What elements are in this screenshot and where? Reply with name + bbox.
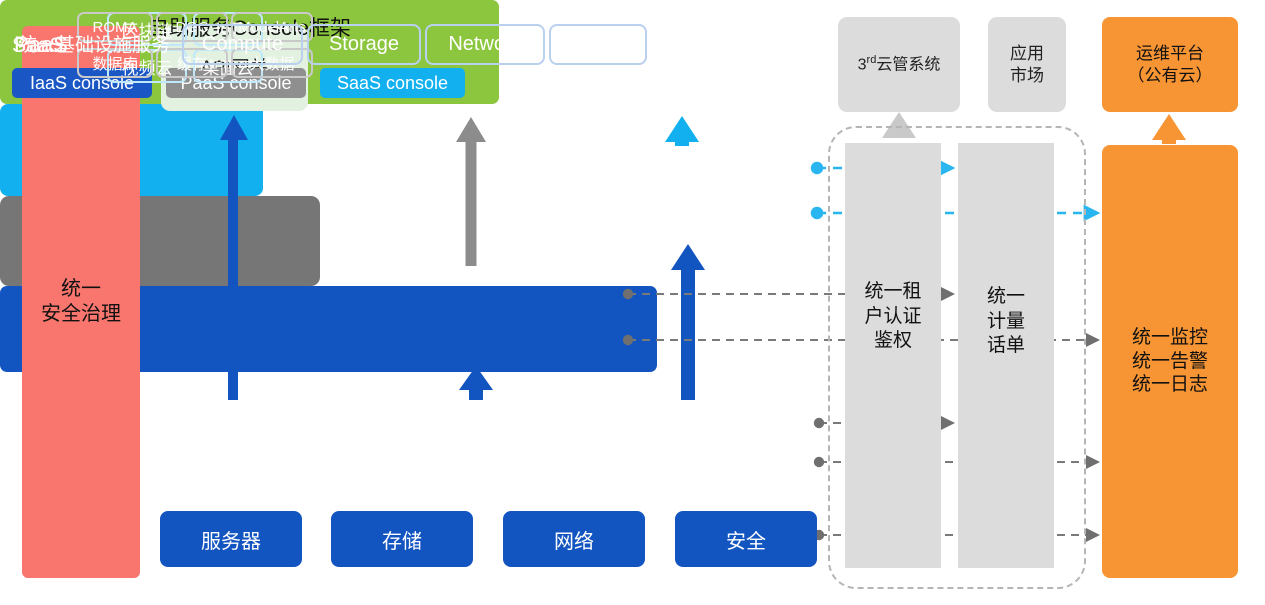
metering-line-1: 统一: [958, 285, 1054, 310]
third-party-rest: 云管系统: [876, 56, 940, 73]
ops-head-label: 运维平台 （公有云）: [1128, 43, 1213, 86]
column-unified-metering-label: 统一 计量 话单: [958, 285, 1054, 359]
third-party-cloud-mgmt-box[interactable]: 3rd云管系统: [838, 17, 960, 112]
security-line-1: 统一: [41, 277, 121, 302]
security-line-2: 安全治理: [41, 302, 121, 327]
metering-line-2: 计量: [958, 310, 1054, 335]
auth-line-2: 户认证: [845, 305, 941, 330]
infra-service-cce[interactable]: CCE: [549, 24, 647, 65]
column-unified-tenant-auth-label: 统一租 户认证 鉴权: [845, 280, 941, 354]
arrow-infra-to-paas: [459, 366, 493, 400]
ops-panel-line-1: 统一监控: [1132, 326, 1208, 350]
third-party-numeral: 3: [858, 56, 867, 73]
hardware-network-box[interactable]: 网络: [503, 511, 645, 567]
architecture-diagram: 统一租 户认证 鉴权 统一 计量 话单 统一 安全治理 API网关 自助服务Co…: [0, 0, 1265, 605]
app-market-line-2: 市场: [1010, 65, 1044, 86]
ops-monitoring-panel[interactable]: 统一监控 统一告警 统一日志: [1102, 145, 1238, 578]
arrow-infra-to-api-gateway: [220, 115, 248, 400]
app-market-label: 应用 市场: [1010, 43, 1044, 86]
column-unified-tenant-auth[interactable]: [845, 143, 941, 568]
ops-head-line-1: 运维平台: [1128, 43, 1213, 64]
unified-security-governance-panel[interactable]: 统一 安全治理: [22, 26, 140, 578]
metering-line-3: 话单: [958, 334, 1054, 359]
ops-panel-line-3: 统一日志: [1132, 373, 1208, 397]
infrastructure-label: 统一基础设施服务: [18, 0, 170, 86]
ops-panel-label: 统一监控 统一告警 统一日志: [1132, 326, 1208, 397]
arrow-to-ops-head: [1152, 114, 1186, 144]
hardware-storage-box[interactable]: 存储: [331, 511, 473, 567]
saas-console-chip[interactable]: SaaS console: [320, 68, 465, 98]
app-market-box[interactable]: 应用 市场: [988, 17, 1066, 112]
app-market-line-1: 应用: [1010, 43, 1044, 64]
infra-service-storage[interactable]: Storage: [307, 24, 421, 65]
arrow-infra-to-saas: [671, 244, 705, 400]
hardware-security-box[interactable]: 安全: [675, 511, 817, 567]
ops-panel-line-2: 统一告警: [1132, 350, 1208, 374]
infra-service-compute[interactable]: Compute: [182, 24, 303, 65]
arrow-paas-to-console: [456, 117, 486, 266]
auth-line-3: 鉴权: [845, 329, 941, 354]
third-party-label: 3rd云管系统: [858, 54, 941, 75]
ops-head-line-2: （公有云）: [1128, 65, 1213, 86]
infra-service-network[interactable]: Network: [425, 24, 545, 65]
auth-line-1: 统一租: [845, 280, 941, 305]
ops-platform-public-cloud-box[interactable]: 运维平台 （公有云）: [1102, 17, 1238, 112]
hardware-server-box[interactable]: 服务器: [160, 511, 302, 567]
third-party-ordinal-suffix: rd: [867, 54, 877, 66]
security-governance-label: 统一 安全治理: [41, 277, 121, 327]
arrow-saas-to-console: [665, 116, 699, 146]
